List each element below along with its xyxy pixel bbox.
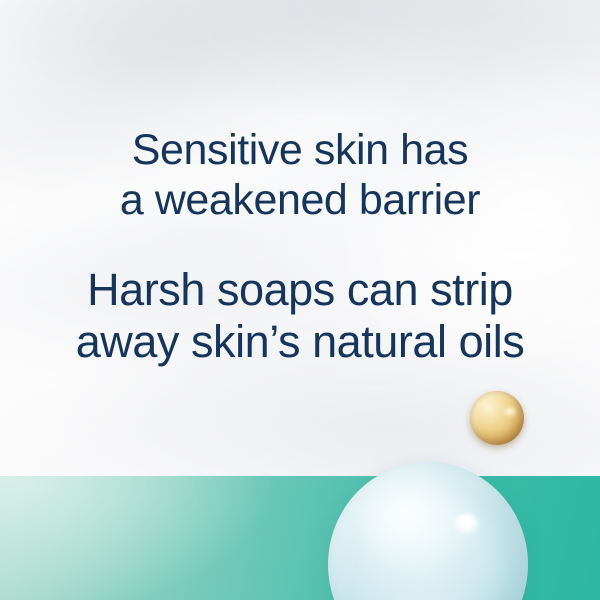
message-barrier: Sensitive skin has a weakened barrier <box>0 126 600 226</box>
poster-canvas: Sensitive skin has a weakened barrier Ha… <box>0 0 600 600</box>
golden-oil-droplet-icon <box>470 391 524 445</box>
message-harsh-soaps: Harsh soaps can strip away skin’s natura… <box>0 264 600 368</box>
droplet-rim <box>470 391 524 445</box>
